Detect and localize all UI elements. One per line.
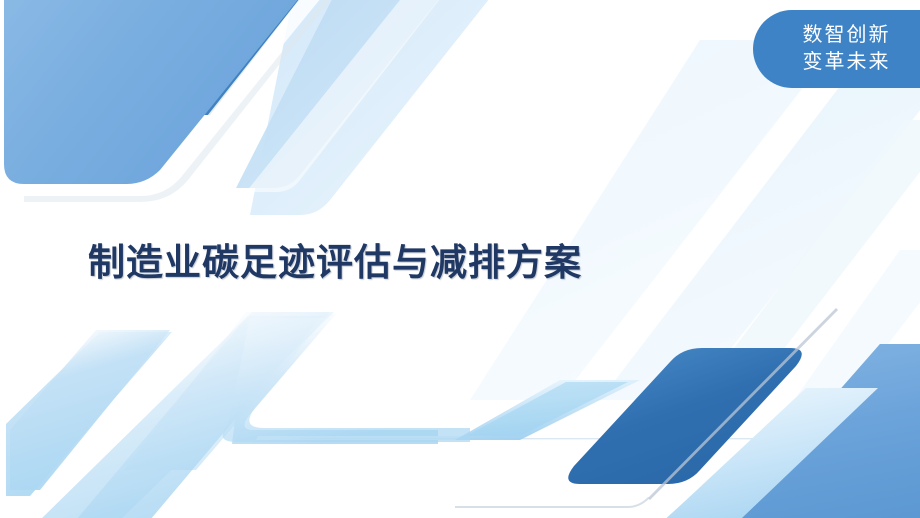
tagline-badge: 数智创新 变革未来	[753, 10, 920, 88]
tagline-line-2: 变革未来	[803, 49, 891, 76]
tagline-line-1: 数智创新	[803, 22, 891, 49]
title-slide: 数智创新 变革未来 制造业碳足迹评估与减排方案	[0, 0, 920, 518]
page-title: 制造业碳足迹评估与减排方案	[88, 232, 582, 286]
